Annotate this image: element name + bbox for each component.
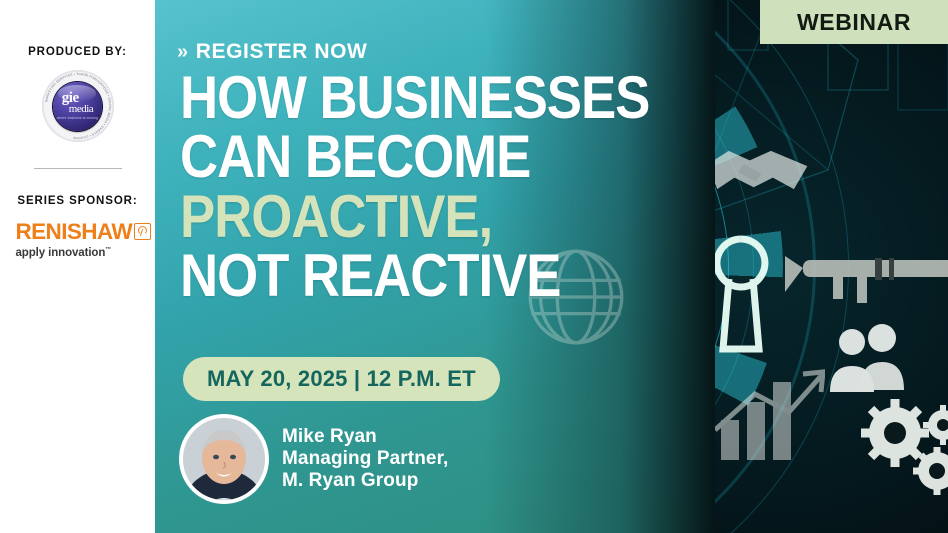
date-time-pill: MAY 20, 2025 | 12 P.M. ET xyxy=(183,357,500,401)
speaker-company: M. Ryan Group xyxy=(282,470,448,492)
speaker-title: Managing Partner, xyxy=(282,448,448,470)
rail-divider xyxy=(34,168,122,169)
renishaw-wordmark: RENISHAW xyxy=(16,221,132,244)
gie-media-logo: MARKETING SERVICES • TRADE PUBLICATIONS … xyxy=(42,70,114,142)
register-now-label: REGISTER NOW xyxy=(196,40,368,64)
people-group-icon xyxy=(820,320,912,398)
sponsor-rail: PRODUCED BY: MARKETING SERVICES • TRADE … xyxy=(0,0,155,533)
speaker-name: Mike Ryan xyxy=(282,426,448,448)
double-chevron-icon: » xyxy=(177,42,189,62)
speaker-info: Mike Ryan Managing Partner, M. Ryan Grou… xyxy=(282,426,448,492)
webinar-badge-label: WEBINAR xyxy=(797,9,911,36)
key-icon xyxy=(755,228,948,318)
renishaw-logo: RENISHAW apply innovation™ xyxy=(16,221,140,259)
page-title: HOW BUSINESSES CAN BECOME PROACTIVE, NOT… xyxy=(180,68,690,306)
hero-panel: WEBINAR » REGISTER NOW HOW BUSINESSES CA… xyxy=(155,0,948,533)
hero-content: » REGISTER NOW HOW BUSINESSES CAN BECOME… xyxy=(177,0,697,533)
gie-logo-tagline: where business is moving xyxy=(57,116,98,120)
produced-by-label: PRODUCED BY: xyxy=(28,46,127,58)
gie-logo-word-sub: media xyxy=(69,105,93,114)
bar-chart-growth-icon xyxy=(715,368,825,463)
headline-line-3: PROACTIVE, xyxy=(180,187,629,246)
gie-logo-core: gie media where business is moving xyxy=(53,82,102,131)
speaker-block: Mike Ryan Managing Partner, M. Ryan Grou… xyxy=(183,418,448,500)
headline-line-4: NOT REACTIVE xyxy=(180,246,629,305)
speaker-headshot xyxy=(183,418,265,500)
series-sponsor-label: SERIES SPONSOR: xyxy=(17,195,137,207)
renishaw-mark-icon xyxy=(134,223,151,240)
gie-logo-wordmark: gie media xyxy=(62,92,93,114)
webinar-badge: WEBINAR xyxy=(760,0,948,44)
register-now-eyebrow[interactable]: » REGISTER NOW xyxy=(177,40,367,64)
headline-line-1: HOW BUSINESSES xyxy=(180,68,629,127)
renishaw-trademark-symbol: ™ xyxy=(105,247,111,253)
headline-line-2: CAN BECOME xyxy=(180,127,629,186)
renishaw-tagline: apply innovation™ xyxy=(16,247,112,259)
webinar-promo-graphic: PRODUCED BY: MARKETING SERVICES • TRADE … xyxy=(0,0,948,533)
renishaw-tagline-text: apply innovation xyxy=(16,247,106,259)
date-time-label: MAY 20, 2025 | 12 P.M. ET xyxy=(207,366,476,392)
handshake-icon xyxy=(700,130,815,210)
gears-icon xyxy=(855,395,948,500)
